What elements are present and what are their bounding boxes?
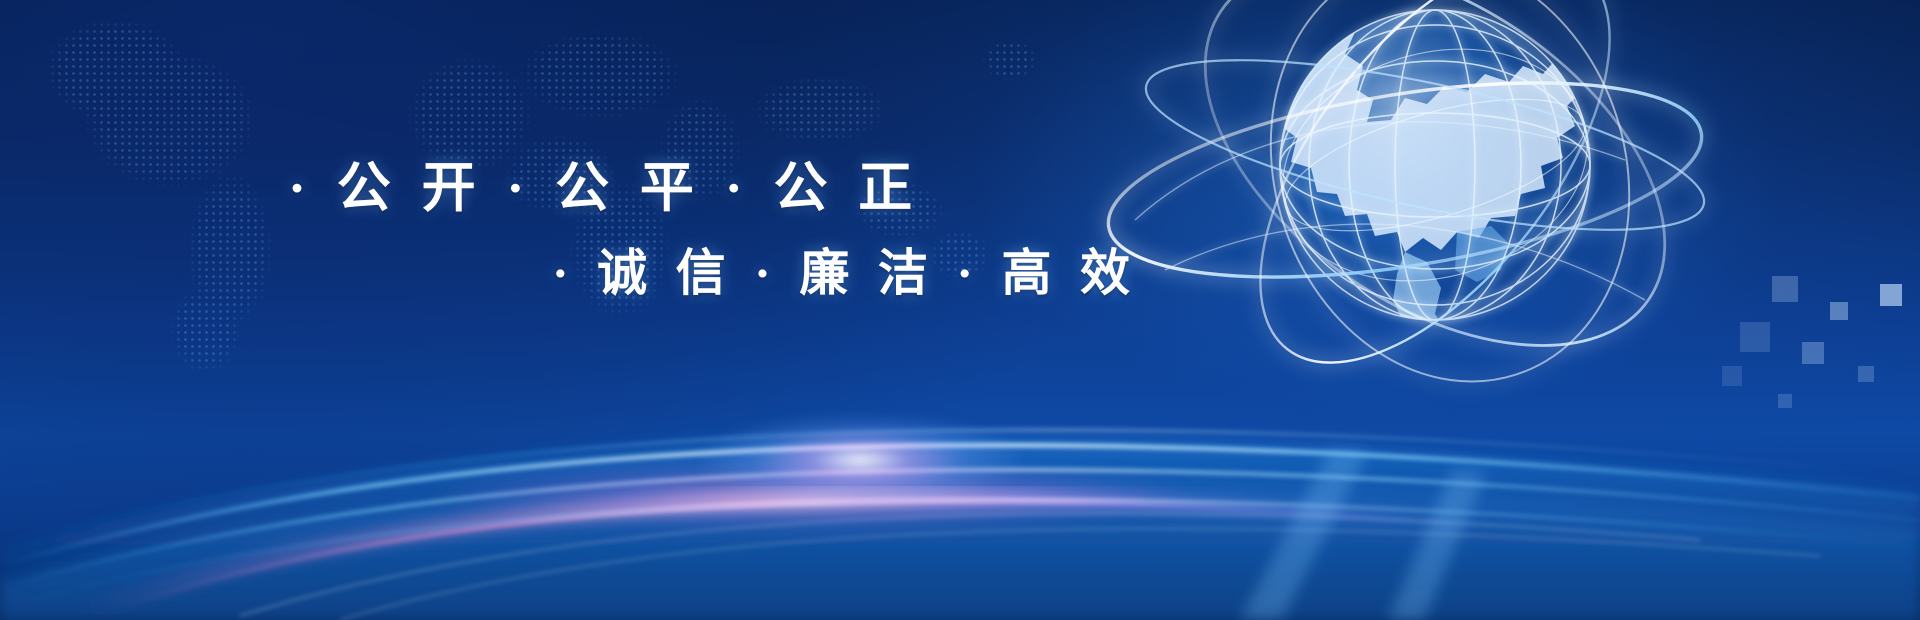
promotional-banner: · 公 开 · 公 平 · 公 正 · 诚 信 · 廉 洁 · 高 效 [0,0,1920,620]
slogan-line-2: · 诚 信 · 廉 洁 · 高 效 [552,233,1138,305]
light-burst-highlight [700,415,1020,505]
pixel-squares-icon [1590,270,1920,460]
slogan-line-1: · 公 开 · 公 平 · 公 正 [288,143,921,222]
